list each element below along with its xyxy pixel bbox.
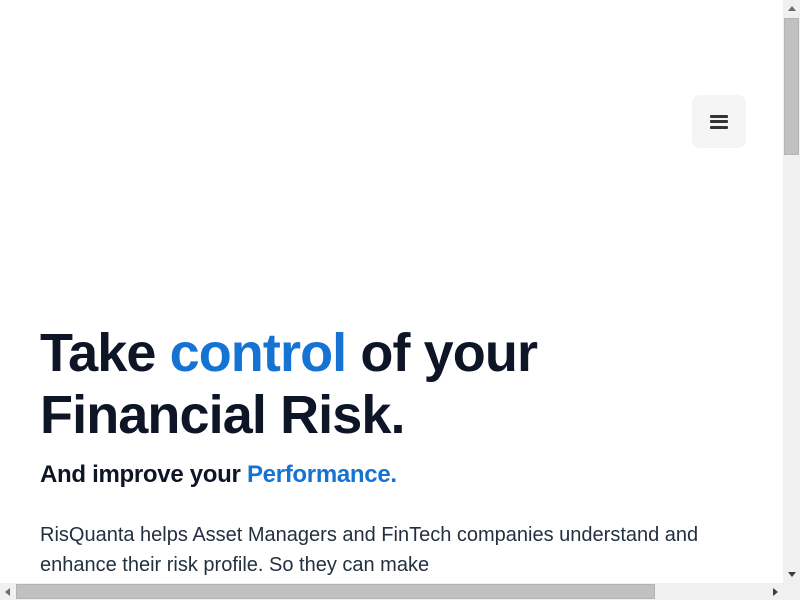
subheadline-accent-performance: Performance.: [247, 461, 397, 488]
headline-accent-control: control: [170, 323, 347, 383]
hamburger-menu-icon: [710, 115, 728, 129]
browser-viewport: Take control of yourFinancial Risk. And …: [0, 0, 783, 583]
subheadline-part-pre: And improve your: [40, 461, 247, 488]
hamburger-menu-button[interactable]: [692, 95, 746, 148]
hero-section: Take control of yourFinancial Risk. And …: [40, 322, 740, 580]
scroll-right-glyph: [773, 588, 778, 596]
hamburger-bar-bottom: [710, 126, 728, 129]
site-header: [0, 0, 783, 180]
horizontal-scrollbar-thumb[interactable]: [16, 584, 655, 599]
hamburger-bar-middle: [710, 120, 728, 123]
scrollbar-corner: [783, 583, 800, 600]
scroll-left-arrow-icon[interactable]: [0, 583, 15, 600]
headline-line-two: Financial Risk.: [40, 385, 405, 445]
scroll-down-arrow-icon[interactable]: [783, 566, 800, 583]
page-surface: Take control of yourFinancial Risk. And …: [0, 0, 783, 583]
scroll-up-glyph: [788, 6, 796, 11]
scroll-left-glyph: [5, 588, 10, 596]
vertical-scrollbar-thumb[interactable]: [784, 18, 799, 155]
hero-subheadline: And improve your Performance.: [40, 460, 740, 490]
scroll-up-arrow-icon[interactable]: [783, 0, 800, 17]
scroll-right-arrow-icon[interactable]: [768, 583, 783, 600]
hero-description: RisQuanta helps Asset Managers and FinTe…: [40, 520, 700, 580]
headline-part-post: of your: [346, 323, 537, 383]
headline-part-pre: Take: [40, 323, 170, 383]
hero-headline: Take control of yourFinancial Risk.: [40, 322, 740, 446]
scroll-down-glyph: [788, 572, 796, 577]
hamburger-bar-top: [710, 115, 728, 118]
